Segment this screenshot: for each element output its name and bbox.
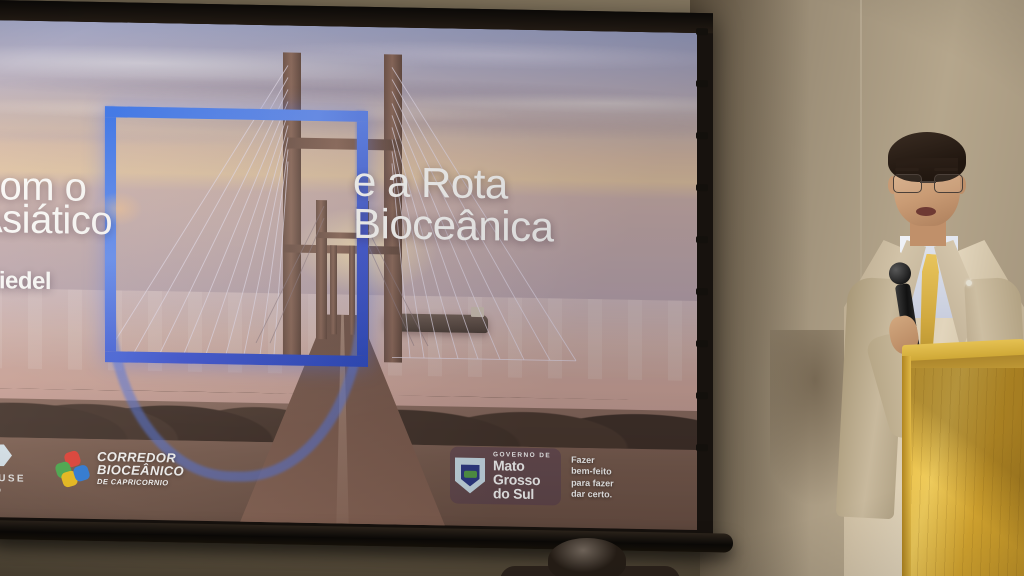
logo-corredor-bioceanico: CORREDOR BIOCEÂNICO DE CAPRICORNIO [56,449,184,488]
governo-ms-tagline: Fazer bem-feito para fazer dar certo. [571,454,614,501]
slide-headline-left-line2: Asiático [0,196,112,244]
governo-ms-tagline-line2: bem-feito [571,466,614,478]
governo-ms-name-line3: do Sul [493,486,551,501]
podium [902,342,1024,576]
logo-governo-mato-grosso-do-sul: GOVERNO DE Mato Grosso do Sul Fazer bem-… [450,446,614,506]
slide-byline: Riedel [0,267,51,296]
governo-ms-tagline-line4: dar certo. [571,489,614,501]
podium-side-edge [902,356,911,576]
hexagon-icon [0,444,12,467]
microphone-head [887,261,912,286]
logo-japan-house-name: AN HOUSE [0,472,36,485]
audience-member-head [548,538,626,576]
eyeglasses-icon [893,174,963,191]
governo-ms-wordmark: GOVERNO DE Mato Grosso do Sul [493,451,551,501]
podium-shadow [906,368,1024,576]
shield-crest-icon [455,457,485,494]
speaker-eyebrow-left [895,168,919,171]
logo-corredor-line3: DE CAPRICORNIO [97,477,184,489]
corredor-blocks-icon [56,451,90,486]
slide-headline-right: e a Rota Bioceânica [353,161,553,249]
governo-ms-plate: GOVERNO DE Mato Grosso do Sul [450,446,561,505]
slide-blue-frame-graphic [105,107,368,367]
logo-japan-house-subtitle: SÃO PAULO [0,487,36,495]
speaker-mouth [916,207,936,216]
presentation-photo: com o Asiático Riedel e a Rota Bioceânic… [0,0,1024,576]
corredor-block-blue [72,463,91,482]
speaker-eyebrow-right [934,168,958,171]
governo-ms-tagline-line3: para fazer [571,477,614,489]
governo-ms-tagline-line1: Fazer [571,454,614,466]
projection-screen-edge-tabs [694,18,708,518]
logo-corredor-text: CORREDOR BIOCEÂNICO DE CAPRICORNIO [97,450,184,489]
logo-japan-house: AN HOUSE SÃO PAULO [0,443,36,495]
speaker-lapel-pin [966,280,972,286]
slide-headline-right-line2: Bioceânica [353,203,553,249]
projected-slide: com o Asiático Riedel e a Rota Bioceânic… [0,20,697,530]
